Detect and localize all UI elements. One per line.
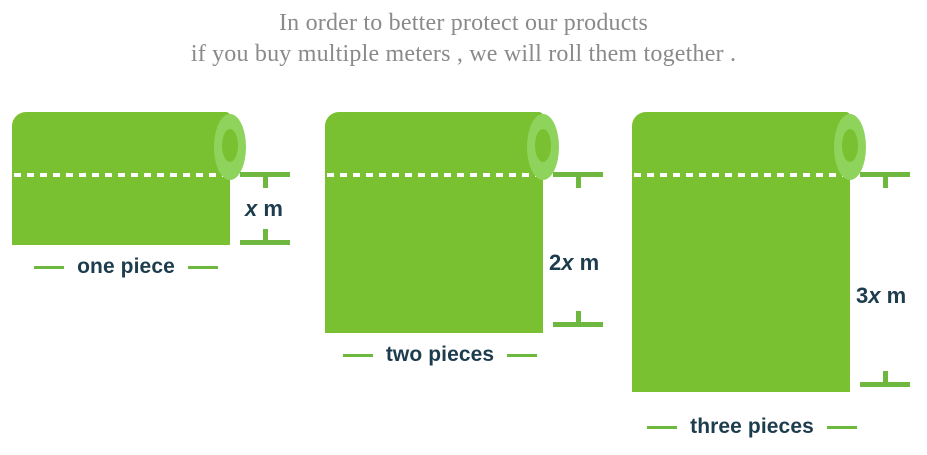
diagram-three-pieces: 3x m three pieces xyxy=(0,0,927,455)
cut-line-three-pieces xyxy=(634,173,850,177)
caption-dash-right-three-pieces xyxy=(827,426,857,429)
dimension-tick-top-three-pieces xyxy=(860,172,910,177)
dimension-multiplier-three-pieces: 3 xyxy=(856,283,868,308)
caption-text-three-pieces: three pieces xyxy=(690,415,814,439)
dimension-unit-three-pieces: m xyxy=(887,283,907,308)
caption-dash-left-three-pieces xyxy=(647,426,677,429)
dimension-stub-top-three-pieces xyxy=(883,177,888,188)
caption-three-pieces: three pieces xyxy=(626,412,878,442)
dimension-label-three-pieces: 3x m xyxy=(856,283,906,309)
dimension-tick-bottom-three-pieces xyxy=(860,382,910,387)
fabric-body-three-pieces xyxy=(632,112,850,392)
roll-hole-three-pieces xyxy=(842,129,858,162)
dimension-stub-bottom-three-pieces xyxy=(883,371,888,382)
dimension-variable-three-pieces: x xyxy=(868,283,880,308)
